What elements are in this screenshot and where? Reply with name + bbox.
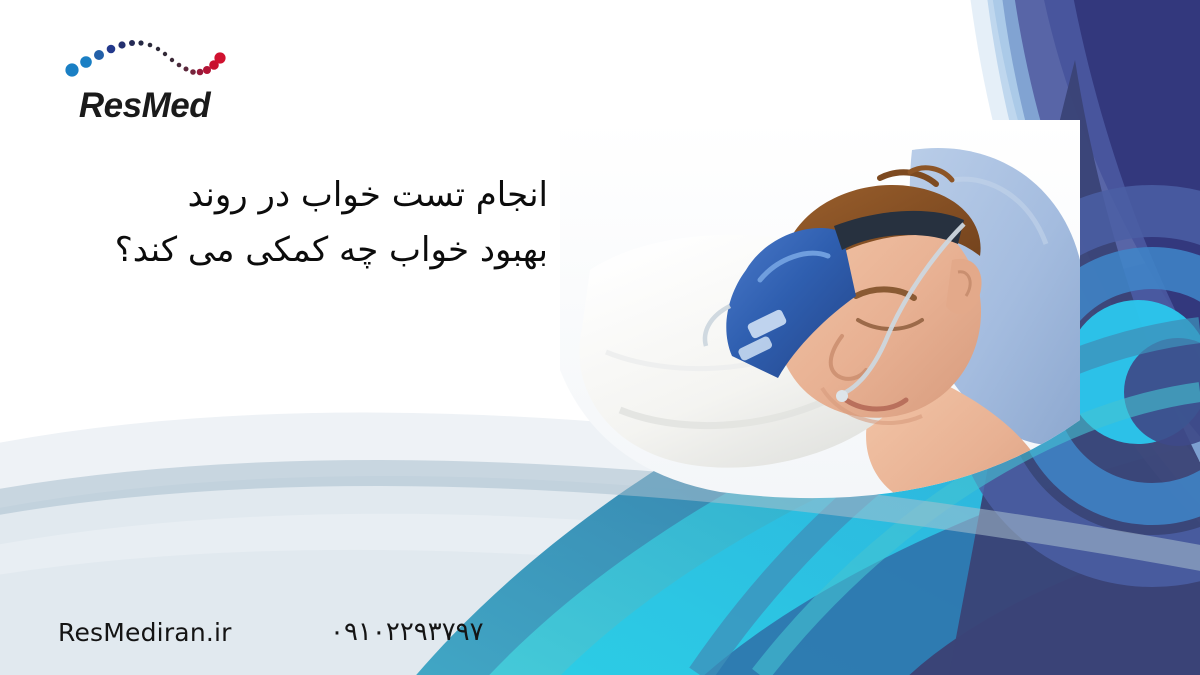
page-title: انجام تست خواب در روند بهبود خواب چه کمک… xyxy=(0,168,548,278)
resmed-wordmark: ResMed xyxy=(62,86,227,126)
headline-line-2: بهبود خواب چه کمکی می کند؟ xyxy=(0,223,548,278)
resmed-logo: ResMed xyxy=(62,18,227,128)
headline-line-1: انجام تست خواب در روند xyxy=(0,168,548,223)
phone-label: ۰۹۱۰۲۲۹۳۷۹۷ xyxy=(330,617,484,647)
resmed-dotted-wave-icon xyxy=(62,18,227,88)
sleeping-man-photo xyxy=(560,120,1080,550)
website-label: ResMediran.ir xyxy=(58,618,232,647)
banner-root: ResMed انجام تست خواب در روند بهبود خواب… xyxy=(0,0,1200,675)
